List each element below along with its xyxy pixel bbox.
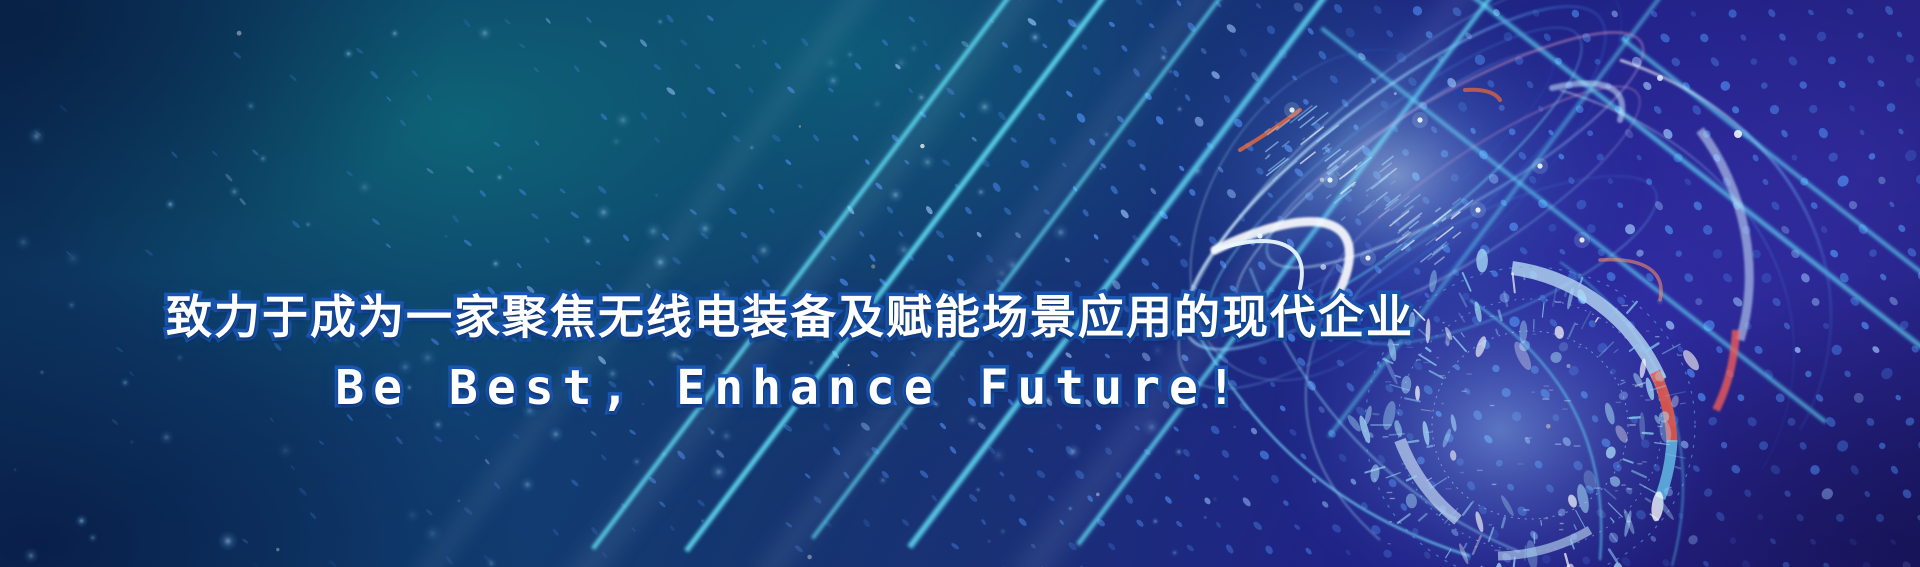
headline-block: 致力于成为一家聚焦无线电装备及赋能场景应用的现代企业 Be Best, Enha…	[0, 286, 1580, 416]
data-dial-sphere	[0, 0, 1920, 567]
background-vignette	[0, 0, 1920, 567]
headline-english: Be Best, Enhance Future!	[0, 360, 1580, 416]
background-gradient	[0, 0, 1920, 567]
right-orbit-arcs	[0, 0, 1920, 567]
hero-banner: 致力于成为一家聚焦无线电装备及赋能场景应用的现代企业 Be Best, Enha…	[0, 0, 1920, 567]
orbital-ring-sphere	[0, 0, 1920, 567]
star-particle-field	[0, 0, 1920, 567]
diagonal-light-beams	[0, 0, 1920, 567]
headline-chinese: 致力于成为一家聚焦无线电装备及赋能场景应用的现代企业	[0, 286, 1580, 348]
dash-dot-grid	[0, 0, 1920, 567]
